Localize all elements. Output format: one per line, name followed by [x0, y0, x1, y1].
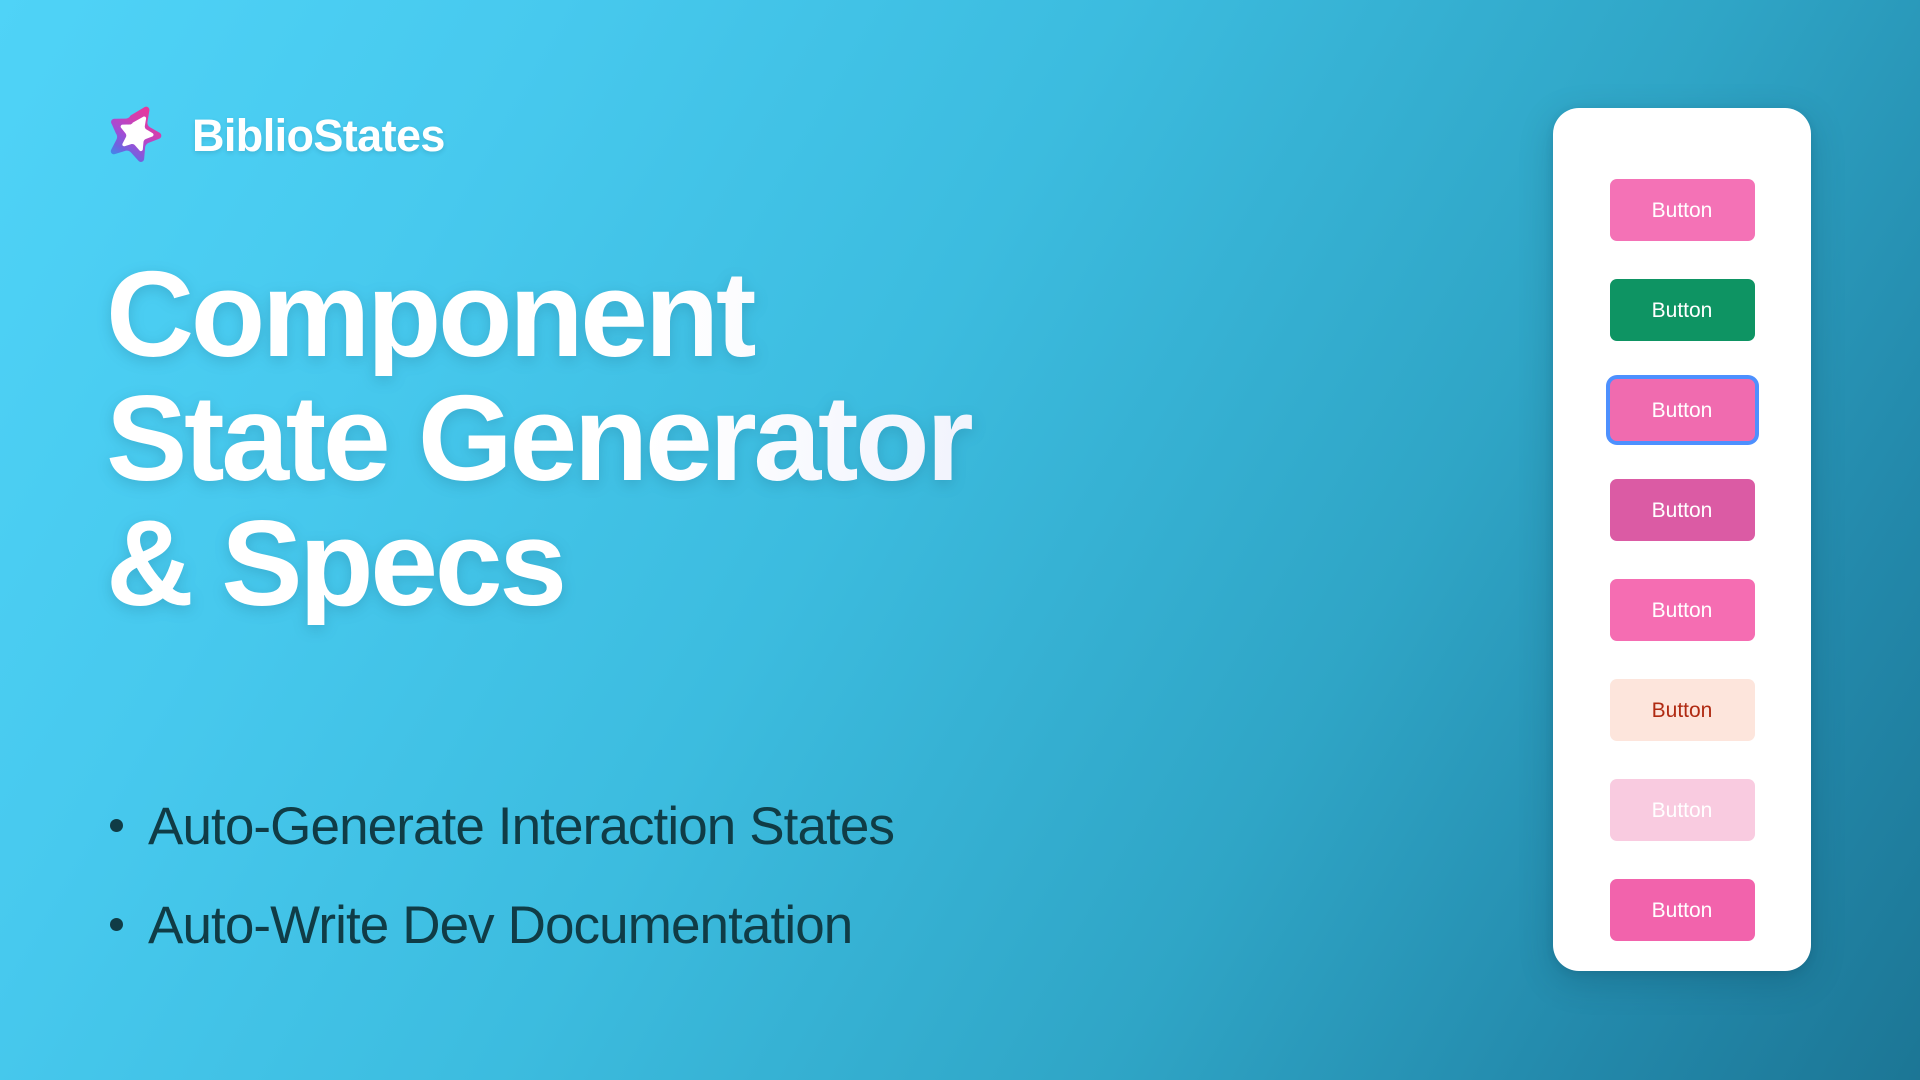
button-row: Button: [1610, 460, 1755, 560]
state-button-danger[interactable]: Button: [1610, 679, 1755, 741]
list-item-label: Auto-Write Dev Documentation: [148, 899, 852, 953]
page-title: Component State Generator & Specs: [106, 252, 1286, 625]
button-row: Button: [1610, 160, 1755, 260]
button-states-preview-card: Button Button Button Button Button Butto…: [1553, 108, 1811, 971]
brand-name: BiblioStates: [192, 113, 445, 158]
state-button-default-1[interactable]: Button: [1610, 179, 1755, 241]
brand-lockup: BiblioStates: [108, 104, 445, 166]
state-button-success[interactable]: Button: [1610, 279, 1755, 341]
button-row: Button: [1610, 660, 1755, 760]
headline-line-3: & Specs: [106, 501, 1286, 625]
sparkle-star-icon: [108, 104, 170, 166]
state-button-active[interactable]: Button: [1610, 479, 1755, 541]
list-item: Auto-Write Dev Documentation: [110, 899, 894, 953]
bullet-dot-icon: [110, 819, 123, 832]
feature-list: Auto-Generate Interaction States Auto-Wr…: [110, 800, 894, 953]
list-item-label: Auto-Generate Interaction States: [148, 800, 894, 854]
state-button-focus[interactable]: Button: [1610, 379, 1755, 441]
state-button-default-2[interactable]: Button: [1610, 879, 1755, 941]
state-button-hover[interactable]: Button: [1610, 579, 1755, 641]
button-row: Button: [1610, 260, 1755, 360]
state-button-disabled[interactable]: Button: [1610, 779, 1755, 841]
headline-line-2: State Generator: [106, 376, 1286, 500]
button-row: Button: [1610, 560, 1755, 660]
list-item: Auto-Generate Interaction States: [110, 800, 894, 854]
headline-line-1: Component: [106, 252, 1286, 376]
button-row: Button: [1610, 860, 1755, 960]
button-row: Button: [1610, 760, 1755, 860]
button-row: Button: [1610, 360, 1755, 460]
bullet-dot-icon: [110, 918, 123, 931]
